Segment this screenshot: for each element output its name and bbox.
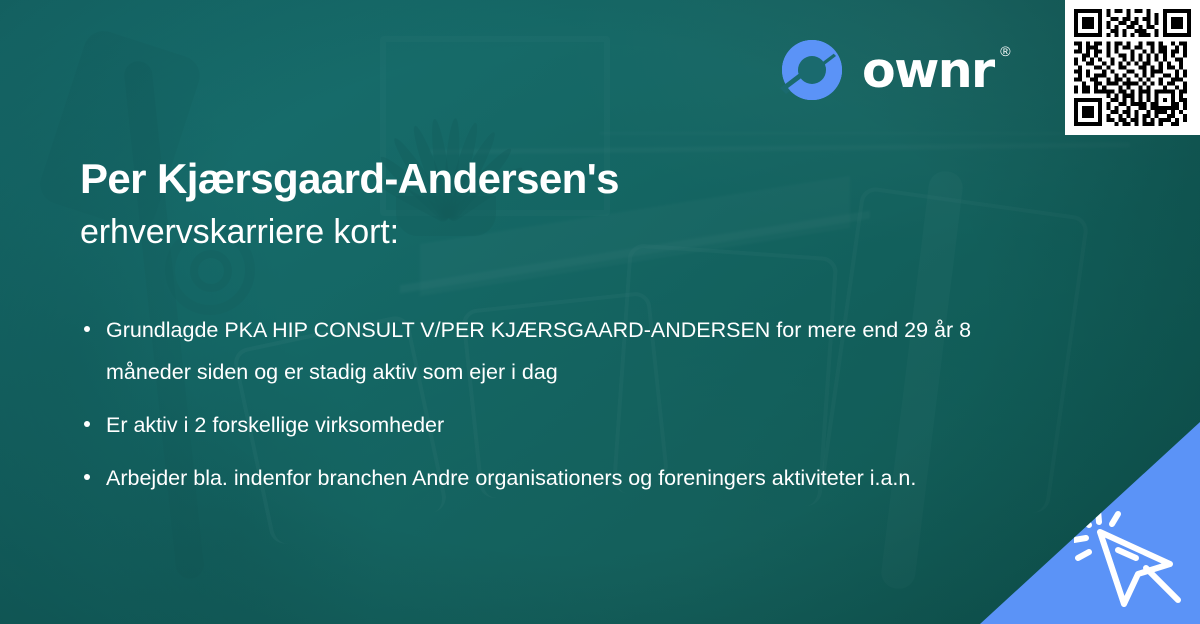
- ownr-wordmark: ownr ®: [862, 46, 994, 95]
- career-card: ownr ® Per Kjærsgaard-Andersen's erhverv…: [0, 0, 1200, 624]
- bullet-dot-icon: [84, 474, 90, 480]
- ownr-circle-mark-icon: [778, 36, 846, 104]
- career-facts-list: Grundlagde PKA HIP CONSULT V/PER KJÆRSGA…: [80, 310, 1010, 511]
- list-item-text: Grundlagde PKA HIP CONSULT V/PER KJÆRSGA…: [106, 318, 971, 384]
- headline-line-2: erhvervskarriere kort:: [80, 210, 1040, 254]
- ownr-logo[interactable]: ownr ®: [778, 36, 994, 104]
- page-title: Per Kjærsgaard-Andersen's erhvervskarrie…: [80, 155, 1040, 254]
- list-item-text: Er aktiv i 2 forskellige virksomheder: [106, 413, 444, 437]
- qr-code-icon: [1074, 9, 1191, 126]
- bullet-dot-icon: [84, 421, 90, 427]
- qr-code-panel[interactable]: [1065, 0, 1200, 135]
- bullet-dot-icon: [84, 326, 90, 332]
- headline-line-1: Per Kjærsgaard-Andersen's: [80, 155, 1040, 204]
- list-item: Er aktiv i 2 forskellige virksomheder: [80, 405, 990, 447]
- list-item: Arbejder bla. indenfor branchen Andre or…: [80, 458, 990, 500]
- list-item: Grundlagde PKA HIP CONSULT V/PER KJÆRSGA…: [80, 310, 990, 394]
- registered-mark: ®: [1000, 44, 1010, 58]
- list-item-text: Arbejder bla. indenfor branchen Andre or…: [106, 466, 916, 490]
- wordmark-text: ownr: [862, 42, 994, 99]
